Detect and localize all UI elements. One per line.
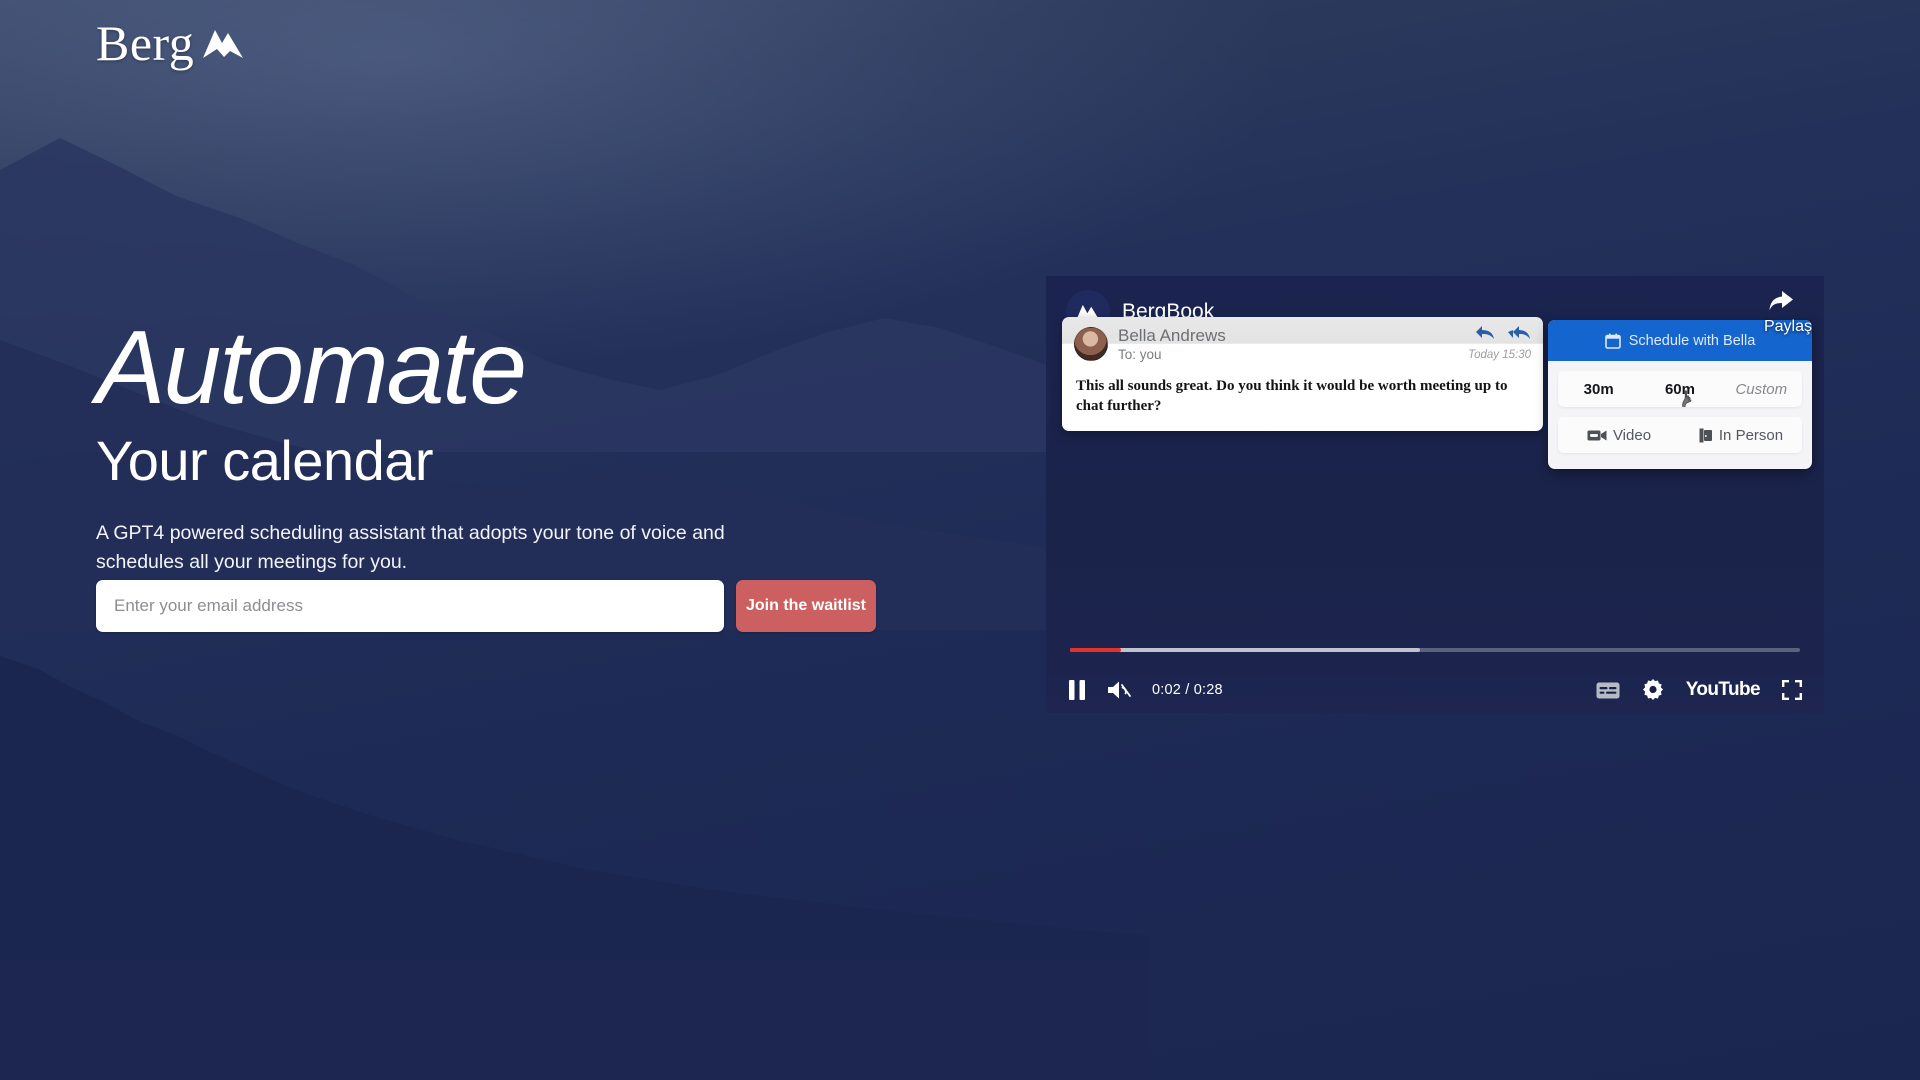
page-title: Automate (96, 318, 916, 420)
calendar-icon (1605, 333, 1621, 349)
meeting-mode-options: Video In Person (1558, 417, 1802, 453)
duration-option-30m[interactable]: 30m (1558, 381, 1639, 398)
meeting-mode-in-person[interactable]: In Person (1680, 427, 1802, 444)
reply-all-arrow-icon[interactable] (1507, 325, 1531, 340)
mountain-slope-foreground (0, 630, 1150, 1080)
progress-played (1070, 648, 1121, 652)
landing-page: Berg Automate Your calendar A GPT4 power… (0, 0, 1920, 1080)
email-body-text: This all sounds great. Do you think it w… (1062, 370, 1543, 431)
brand-name: Berg (96, 18, 194, 68)
email-input[interactable] (96, 580, 724, 632)
join-waitlist-button[interactable]: Join the waitlist (736, 580, 876, 632)
pause-icon[interactable] (1068, 680, 1086, 700)
youtube-video-player[interactable]: BergBook Paylaş Bella Andrews To: you (1046, 276, 1824, 713)
hero-section: Automate Your calendar A GPT4 powered sc… (96, 318, 916, 577)
meeting-mode-video[interactable]: Video (1558, 427, 1680, 444)
reply-arrow-icon[interactable] (1475, 325, 1495, 340)
duration-options: 30m 60m Custom (1558, 371, 1802, 407)
youtube-wordmark[interactable]: YouTube (1686, 679, 1760, 701)
schedule-popup: Schedule with Bella 30m 60m Custom (1548, 320, 1812, 469)
duration-option-custom[interactable]: Custom (1721, 381, 1802, 398)
waitlist-signup-form: Join the waitlist (96, 580, 876, 632)
gear-icon[interactable] (1642, 679, 1664, 701)
email-sender-block: Bella Andrews To: you (1118, 327, 1226, 362)
mountain-peak-icon (200, 21, 246, 61)
subtitles-icon[interactable] (1596, 682, 1620, 699)
door-icon (1699, 428, 1713, 443)
schedule-popup-title: Schedule with Bella (1629, 333, 1756, 349)
email-sender-name: Bella Andrews (1118, 327, 1226, 346)
volume-muted-icon[interactable] (1106, 679, 1132, 701)
hero-description: A GPT4 powered scheduling assistant that… (96, 519, 796, 578)
email-actions (1475, 325, 1531, 340)
share-tooltip: Paylaş (1764, 318, 1812, 336)
duration-option-60m[interactable]: 60m (1639, 381, 1720, 398)
brand-logo[interactable]: Berg (96, 18, 246, 68)
email-recipient: To: you (1118, 347, 1226, 362)
email-timestamp: Today 15:30 (1468, 349, 1531, 361)
fullscreen-icon[interactable] (1782, 680, 1802, 700)
video-progress-bar[interactable] (1070, 648, 1800, 652)
video-timestamp: 0:02 / 0:28 (1152, 682, 1223, 698)
avatar (1074, 327, 1108, 361)
video-controls-right: YouTube (1596, 679, 1802, 701)
email-card: Bella Andrews To: you Today 15:30 This a… (1062, 317, 1543, 431)
page-subtitle: Your calendar (96, 432, 916, 491)
email-header: Bella Andrews To: you Today 15:30 (1062, 317, 1543, 370)
progress-buffered (1070, 648, 1420, 652)
video-controls-bar: 0:02 / 0:28 (1046, 639, 1824, 713)
video-camera-icon (1587, 429, 1607, 442)
share-arrow-icon[interactable] (1764, 286, 1798, 316)
video-controls-left: 0:02 / 0:28 (1068, 679, 1223, 701)
